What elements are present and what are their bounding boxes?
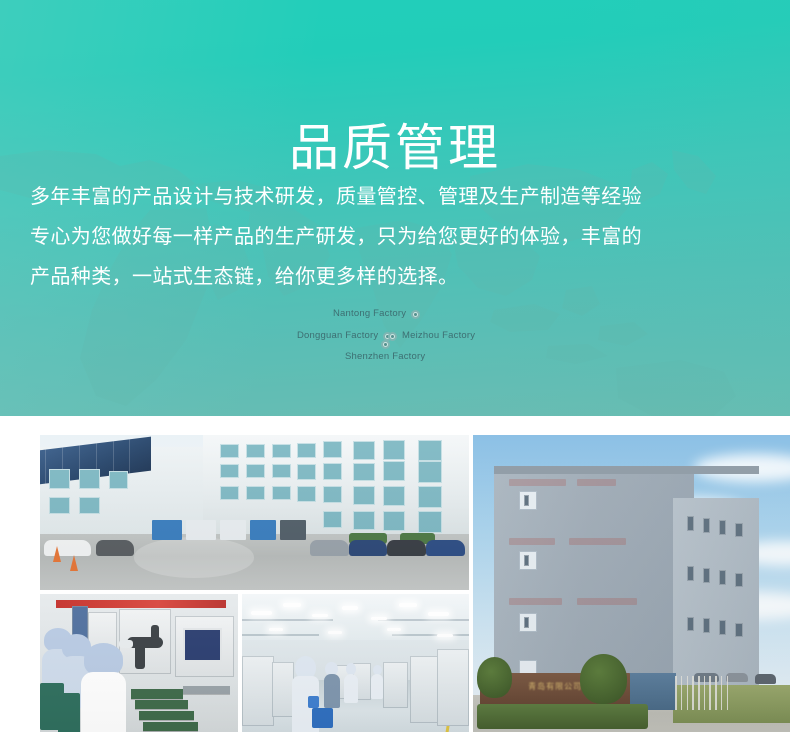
hedge-row — [477, 704, 648, 729]
photo-office-building-gate[interactable]: 青岛有限公司 — [473, 435, 790, 732]
worker-figure — [371, 665, 382, 699]
location-dot-icon — [381, 340, 390, 349]
factory-marker-shenzhen[interactable]: Shenzhen Factory — [345, 340, 425, 363]
courtyard-scene — [40, 435, 469, 590]
factory-markers: Nantong Factory Dongguan Factory Meizhou… — [0, 0, 790, 416]
worker-figure — [344, 663, 358, 703]
factory-marker-nantong[interactable]: Nantong Factory — [333, 308, 420, 320]
office-building-wing — [673, 498, 759, 695]
production-line-scene — [242, 594, 469, 732]
photo-production-line[interactable] — [242, 594, 469, 732]
factory-label-nantong: Nantong Factory — [333, 308, 406, 320]
photo-factory-courtyard[interactable] — [40, 435, 469, 590]
roof-cap — [494, 466, 758, 474]
quality-management-page: 品质管理 多年丰富的产品设计与技术研发，质量管控、管理及生产制造等经验 专心为您… — [0, 0, 790, 732]
hero-banner: 品质管理 多年丰富的产品设计与技术研发，质量管控、管理及生产制造等经验 专心为您… — [0, 0, 790, 416]
location-dot-icon — [411, 310, 420, 319]
photo-gallery: 青岛有限公司 — [0, 416, 790, 732]
photo-microscope-inspection[interactable] — [40, 594, 238, 732]
worker-figure — [84, 643, 124, 732]
worker-figure — [324, 662, 340, 708]
inspection-scene — [40, 594, 238, 732]
office-building-scene: 青岛有限公司 — [473, 435, 790, 732]
ground-circle — [134, 537, 254, 577]
factory-label-shenzhen: Shenzhen Factory — [345, 351, 425, 363]
sliding-gate — [673, 676, 730, 710]
